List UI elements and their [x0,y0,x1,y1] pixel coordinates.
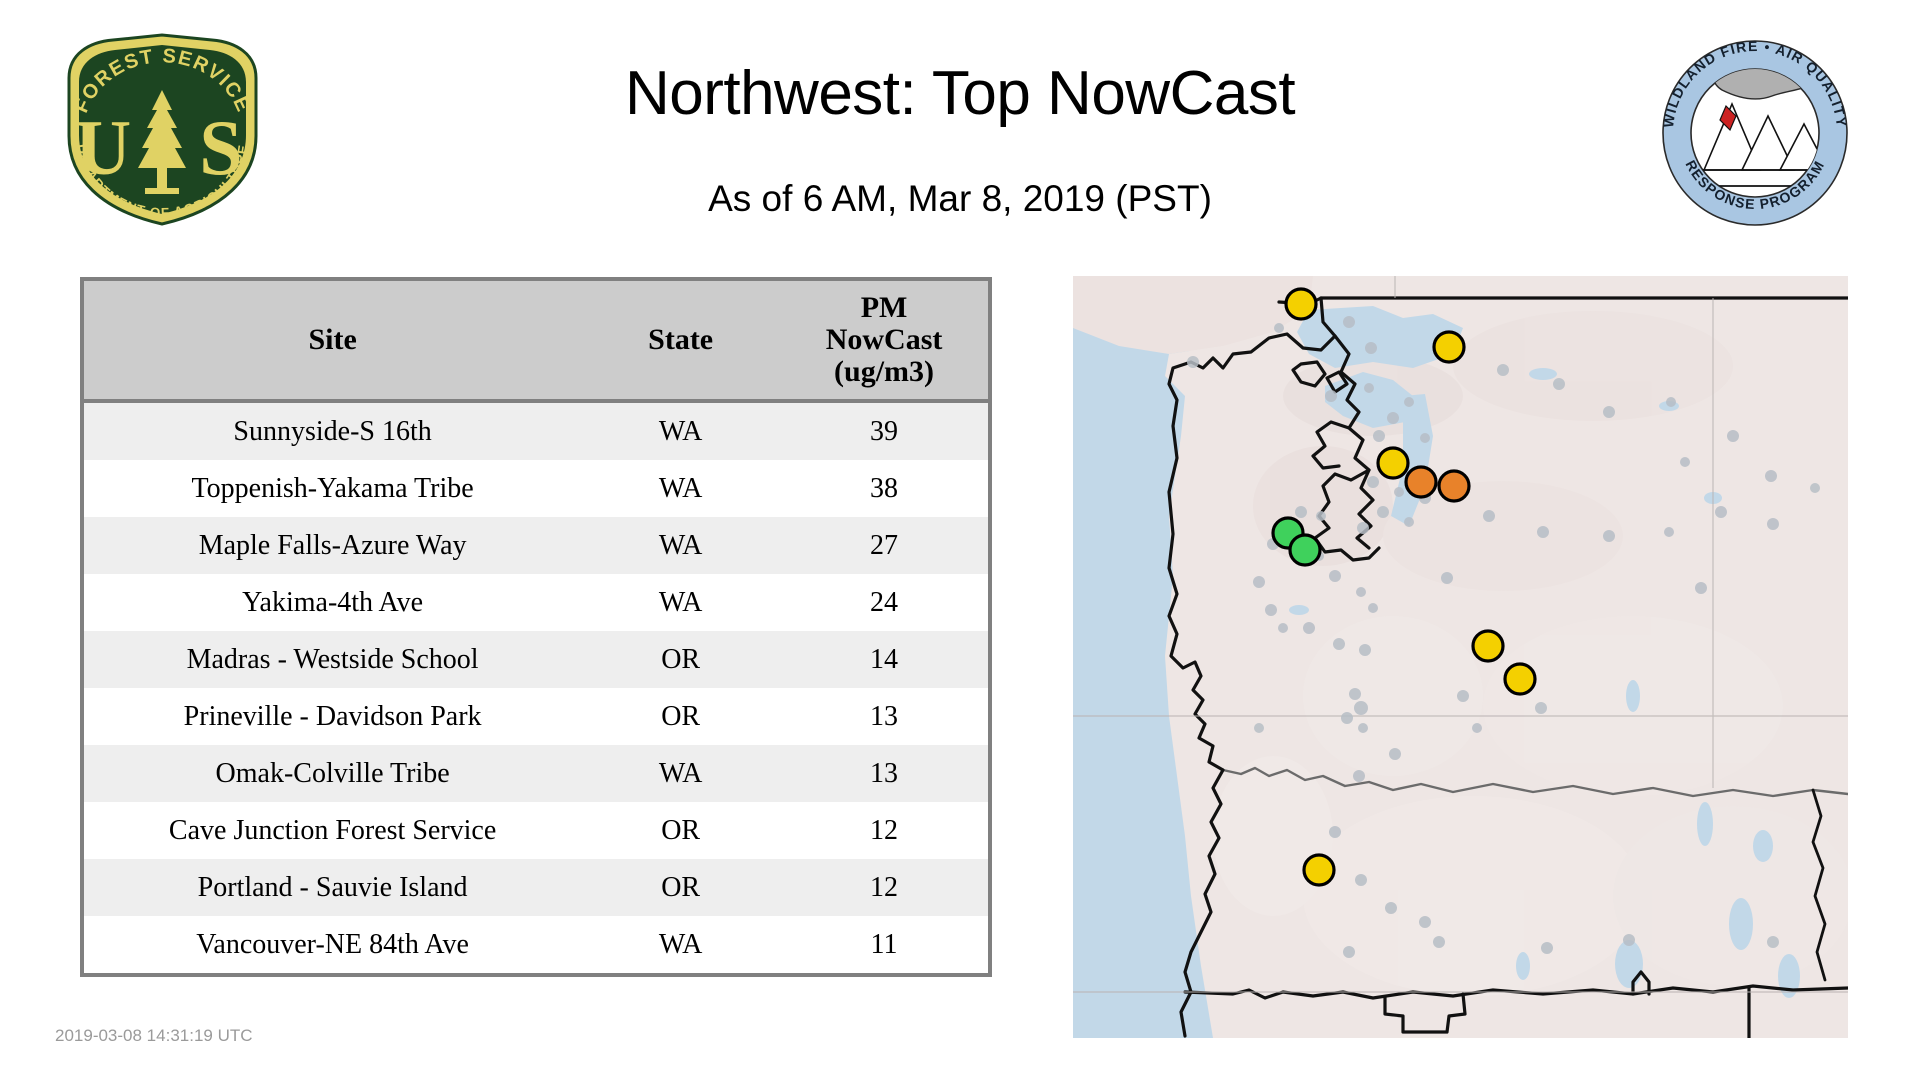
state-cell: OR [581,859,780,916]
pm-nowcast-cell: 11 [780,916,988,973]
nowcast-table-container: Site State PM NowCast (ug/m3) Sunnyside-… [80,277,992,977]
nowcast-table: Site State PM NowCast (ug/m3) Sunnyside-… [84,281,988,973]
site-cell: Vancouver-NE 84th Ave [84,916,581,973]
site-cell: Prineville - Davidson Park [84,688,581,745]
column-header-pm-line1: PM [780,292,988,324]
state-cell: WA [581,916,780,973]
pm-nowcast-cell: 13 [780,745,988,802]
table-row[interactable]: Portland - Sauvie IslandOR12 [84,859,988,916]
column-header-state[interactable]: State [581,281,780,401]
state-cell: WA [581,745,780,802]
pm-nowcast-cell: 27 [780,517,988,574]
table-row[interactable]: Cave Junction Forest ServiceOR12 [84,802,988,859]
map-marker[interactable] [1505,664,1535,694]
svg-text:S: S [199,104,242,191]
map-marker[interactable] [1304,855,1334,885]
page-subtitle: As of 6 AM, Mar 8, 2019 (PST) [360,178,1560,220]
table-row[interactable]: Madras - Westside SchoolOR14 [84,631,988,688]
state-cell: OR [581,688,780,745]
table-row[interactable]: Maple Falls-Azure WayWA27 [84,517,988,574]
table-row[interactable]: Sunnyside-S 16thWA39 [84,401,988,460]
map-marker[interactable] [1290,535,1320,565]
site-cell: Yakima-4th Ave [84,574,581,631]
state-cell: WA [581,401,780,460]
table-body: Sunnyside-S 16thWA39Toppenish-Yakama Tri… [84,401,988,973]
column-header-site[interactable]: Site [84,281,581,401]
pm-nowcast-cell: 38 [780,460,988,517]
state-cell: OR [581,802,780,859]
map-marker[interactable] [1286,289,1316,319]
column-header-pm-line2: NowCast [780,324,988,356]
pm-nowcast-cell: 14 [780,631,988,688]
site-cell: Omak-Colville Tribe [84,745,581,802]
page-title: Northwest: Top NowCast [360,58,1560,129]
pm-nowcast-cell: 12 [780,859,988,916]
wildland-fire-air-quality-logo: WILDLAND FIRE • AIR QUALITY RESPONSE PRO… [1660,38,1850,228]
pm-nowcast-cell: 12 [780,802,988,859]
map-marker[interactable] [1473,631,1503,661]
pm-nowcast-cell: 24 [780,574,988,631]
site-cell: Sunnyside-S 16th [84,401,581,460]
state-cell: OR [581,631,780,688]
map-marker[interactable] [1406,467,1436,497]
state-cell: WA [581,460,780,517]
state-cell: WA [581,574,780,631]
site-cell: Maple Falls-Azure Way [84,517,581,574]
table-header: Site State PM NowCast (ug/m3) [84,281,988,401]
page-header: FOREST SERVICE DEPARTMENT OF AGRICULTURE… [0,0,1920,270]
column-header-pm-nowcast[interactable]: PM NowCast (ug/m3) [780,281,988,401]
table-row[interactable]: Prineville - Davidson ParkOR13 [84,688,988,745]
svg-text:U: U [75,104,131,191]
map-marker[interactable] [1439,471,1469,501]
site-cell: Toppenish-Yakama Tribe [84,460,581,517]
state-cell: WA [581,517,780,574]
table-row[interactable]: Vancouver-NE 84th AveWA11 [84,916,988,973]
table-header-row: Site State PM NowCast (ug/m3) [84,281,988,401]
generation-timestamp: 2019-03-08 14:31:19 UTC [55,1026,253,1046]
site-cell: Cave Junction Forest Service [84,802,581,859]
map-marker[interactable] [1378,448,1408,478]
table-row[interactable]: Omak-Colville TribeWA13 [84,745,988,802]
nowcast-map[interactable] [1073,276,1848,1038]
pm-nowcast-cell: 13 [780,688,988,745]
column-header-pm-line3: (ug/m3) [780,356,988,388]
table-row[interactable]: Toppenish-Yakama TribeWA38 [84,460,988,517]
table-row[interactable]: Yakima-4th AveWA24 [84,574,988,631]
site-cell: Portland - Sauvie Island [84,859,581,916]
site-cell: Madras - Westside School [84,631,581,688]
us-forest-service-logo: FOREST SERVICE DEPARTMENT OF AGRICULTURE… [55,32,270,227]
map-marker[interactable] [1434,332,1464,362]
pm-nowcast-cell: 39 [780,401,988,460]
